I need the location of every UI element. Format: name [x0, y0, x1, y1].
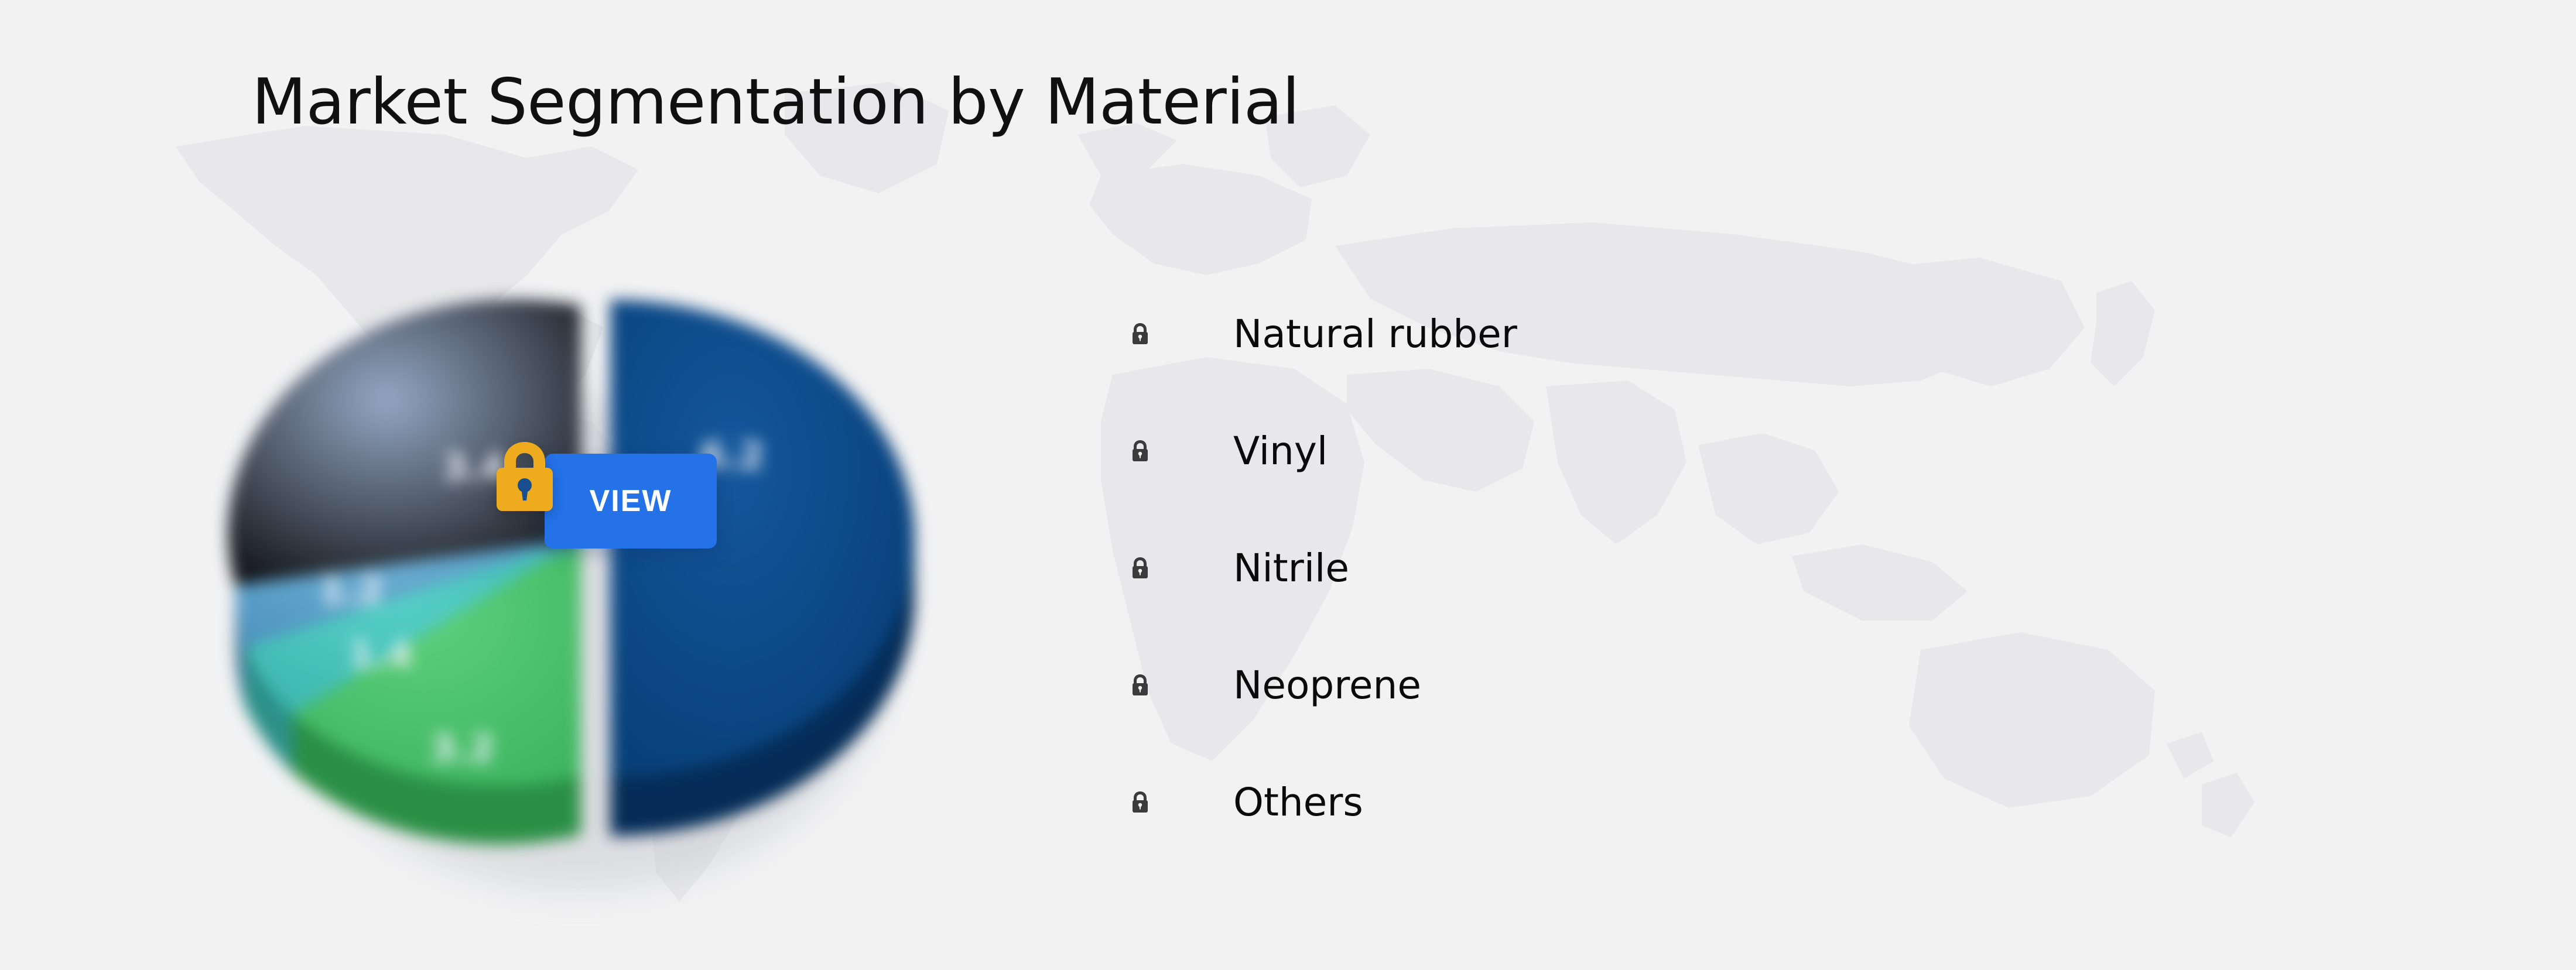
legend-item-neoprene[interactable]: Neoprene — [1130, 626, 1517, 743]
pie-chart: 6.2 3.2 1.4 1.2 3.4 — [146, 176, 1060, 948]
view-button[interactable]: VIEW — [545, 454, 717, 549]
lock-icon — [1130, 790, 1150, 814]
legend-item-nitrile[interactable]: Nitrile — [1130, 509, 1517, 626]
legend-item-label: Nitrile — [1233, 546, 1349, 591]
legend-item-label: Others — [1233, 780, 1363, 825]
pie-chart-svg: 6.2 3.2 1.4 1.2 3.4 — [146, 176, 1060, 948]
lock-icon — [1130, 673, 1150, 697]
lock-icon — [1130, 556, 1150, 580]
svg-text:1.2: 1.2 — [319, 569, 384, 612]
legend-item-label: Vinyl — [1233, 429, 1328, 474]
legend-item-vinyl[interactable]: Vinyl — [1130, 392, 1517, 509]
view-button-label: VIEW — [590, 484, 672, 519]
legend: Natural rubber Vinyl Nitrile Neoprene — [1130, 275, 1517, 861]
locked-content-overlay[interactable]: VIEW — [489, 436, 560, 513]
legend-item-natural-rubber[interactable]: Natural rubber — [1130, 275, 1517, 392]
legend-item-others[interactable]: Others — [1130, 743, 1517, 861]
lock-icon — [1130, 322, 1150, 345]
legend-item-label: Neoprene — [1233, 663, 1421, 708]
svg-text:1.4: 1.4 — [348, 633, 413, 676]
legend-item-label: Natural rubber — [1233, 311, 1517, 357]
lock-icon — [1130, 439, 1150, 462]
padlock-icon — [489, 436, 560, 513]
page-title: Market Segmentation by Material — [252, 66, 1299, 139]
svg-text:3.2: 3.2 — [430, 727, 495, 770]
